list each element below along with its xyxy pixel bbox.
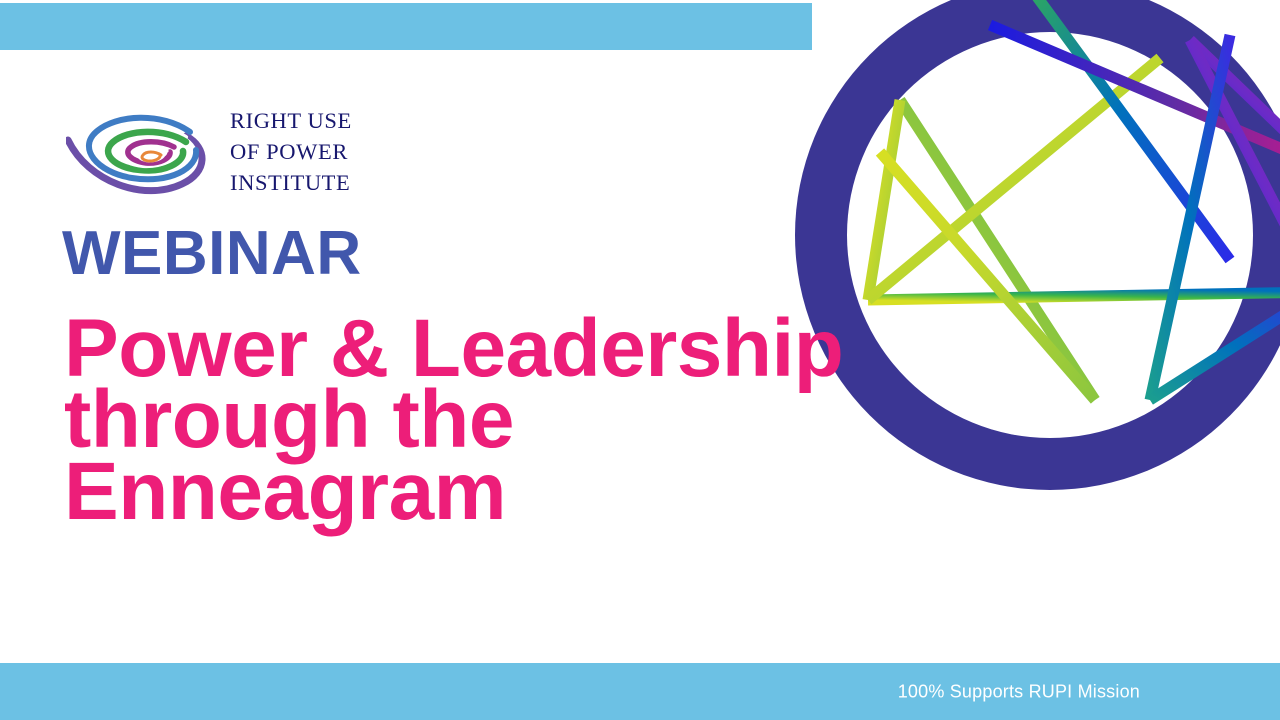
- spiral-swoosh-icon: [66, 106, 218, 198]
- logo-line-2: OF POWER: [230, 136, 352, 167]
- logo-wordmark: RIGHT USE OF POWER INSTITUTE: [230, 105, 352, 198]
- webinar-slide: RIGHT USE OF POWER INSTITUTE WEBINAR Pow…: [0, 0, 1280, 720]
- title-line-3: Enneagram: [64, 456, 843, 527]
- bottom-accent-bar: 100% Supports RUPI Mission: [0, 663, 1280, 720]
- kicker-webinar: WEBINAR: [62, 223, 362, 285]
- logo-line-3: INSTITUTE: [230, 167, 352, 198]
- logo: RIGHT USE OF POWER INSTITUTE: [66, 105, 352, 198]
- title-line-2: through the: [64, 384, 843, 455]
- top-accent-bar: [0, 3, 812, 50]
- footer-text: 100% Supports RUPI Mission: [898, 681, 1140, 702]
- logo-line-1: RIGHT USE: [230, 105, 352, 136]
- page-title: Power & Leadership through the Enneagram: [64, 313, 843, 527]
